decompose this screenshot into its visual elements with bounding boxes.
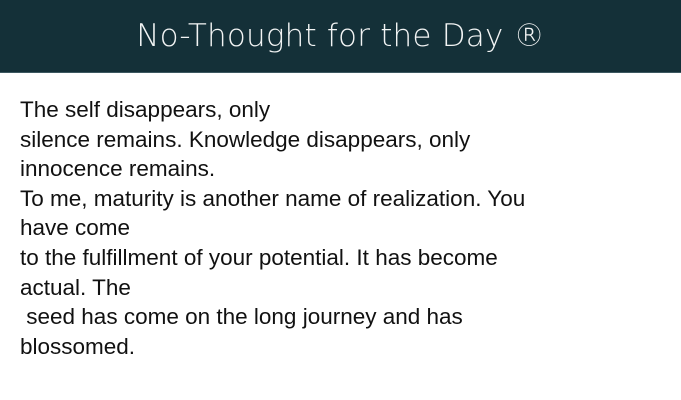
quote-line: actual. The: [20, 273, 663, 303]
quote-line: silence remains. Knowledge disappears, o…: [20, 125, 663, 155]
header-bar: No-Thought for the Day ®: [0, 0, 681, 73]
quote-line: blossomed.: [20, 332, 663, 362]
quote-text-block: The self disappears, only silence remain…: [20, 95, 663, 361]
quote-line: have come: [20, 213, 663, 243]
no-thought-for-the-day-card: No-Thought for the Day ® The self disapp…: [0, 0, 681, 400]
quote-line: to the fulfillment of your potential. It…: [20, 243, 663, 273]
quote-line: To me, maturity is another name of reali…: [20, 184, 663, 214]
page-title: No-Thought for the Day ®: [136, 21, 545, 52]
quote-line: innocence remains.: [20, 154, 663, 184]
quote-body: The self disappears, only silence remain…: [0, 73, 681, 400]
quote-line: The self disappears, only: [20, 95, 663, 125]
quote-line: seed has come on the long journey and ha…: [20, 302, 663, 332]
